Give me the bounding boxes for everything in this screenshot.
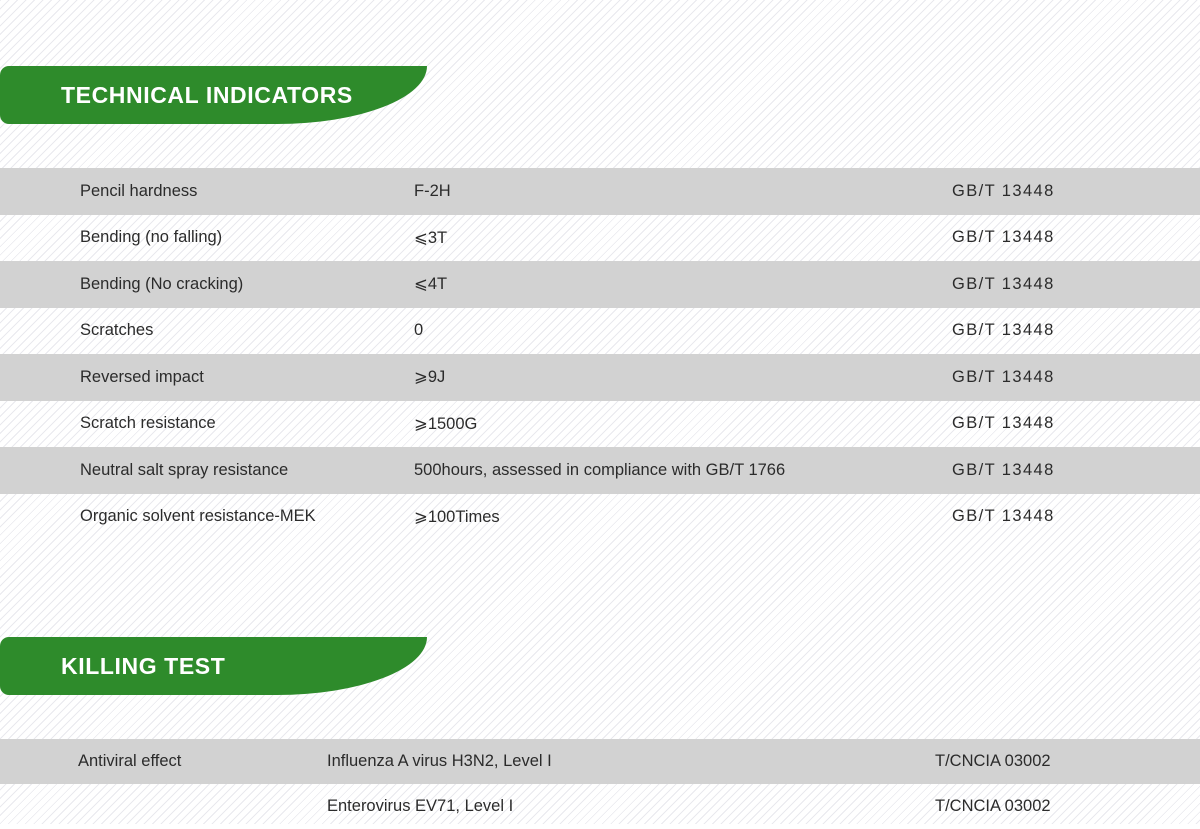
row-label: Scratches: [80, 308, 153, 355]
row-value: ⩽3T: [414, 215, 447, 262]
row-label: Bending (no falling): [80, 215, 222, 262]
row-value: 0: [414, 308, 423, 355]
row-label: Pencil hardness: [80, 168, 197, 215]
row-standard: GB/T 13448: [952, 447, 1055, 494]
row-value: ⩾1500G: [414, 401, 477, 448]
table-row: Antiviral effect Influenza A virus H3N2,…: [0, 739, 1200, 784]
technical-indicators-table: Pencil hardness F-2H GB/T 13448 Bending …: [0, 168, 1200, 540]
section-banner-killing-test: KILLING TEST: [0, 637, 427, 695]
row-standard: GB/T 13448: [952, 308, 1055, 355]
table-row: Reversed impact ⩾9J GB/T 13448: [0, 354, 1200, 401]
row-label: Neutral salt spray resistance: [80, 447, 288, 494]
row-label: Organic solvent resistance-MEK: [80, 494, 316, 541]
table-row: Bending (No cracking) ⩽4T GB/T 13448: [0, 261, 1200, 308]
section-banner-technical-indicators: TECHNICAL INDICATORS: [0, 66, 427, 124]
killing-test-table: Antiviral effect Influenza A virus H3N2,…: [0, 739, 1200, 829]
table-row: Bending (no falling) ⩽3T GB/T 13448: [0, 215, 1200, 262]
table-row: Scratch resistance ⩾1500G GB/T 13448: [0, 401, 1200, 448]
row-value: F-2H: [414, 168, 451, 215]
row-standard: GB/T 13448: [952, 494, 1055, 541]
row-label: Scratch resistance: [80, 401, 216, 448]
section-title-killing-test: KILLING TEST: [0, 653, 225, 680]
row-value: ⩾9J: [414, 354, 445, 401]
row-value: Influenza A virus H3N2, Level I: [327, 739, 552, 784]
table-row: Neutral salt spray resistance 500hours, …: [0, 447, 1200, 494]
row-standard: GB/T 13448: [952, 261, 1055, 308]
section-title-technical-indicators: TECHNICAL INDICATORS: [0, 82, 353, 109]
row-standard: T/CNCIA 03002: [935, 784, 1051, 829]
row-standard: GB/T 13448: [952, 401, 1055, 448]
table-row: Organic solvent resistance-MEK ⩾100Times…: [0, 494, 1200, 541]
row-value: Enterovirus EV71, Level I: [327, 784, 513, 829]
table-row: Enterovirus EV71, Level I T/CNCIA 03002: [0, 784, 1200, 829]
row-standard: GB/T 13448: [952, 354, 1055, 401]
row-value: 500hours, assessed in compliance with GB…: [414, 447, 785, 494]
row-standard: GB/T 13448: [952, 168, 1055, 215]
row-value: ⩽4T: [414, 261, 447, 308]
page-background: TECHNICAL INDICATORS Pencil hardness F-2…: [0, 0, 1200, 824]
row-value: ⩾100Times: [414, 494, 500, 541]
row-label: Bending (No cracking): [80, 261, 243, 308]
table-row: Scratches 0 GB/T 13448: [0, 308, 1200, 355]
row-standard: T/CNCIA 03002: [935, 739, 1051, 784]
table-row: Pencil hardness F-2H GB/T 13448: [0, 168, 1200, 215]
row-label: Reversed impact: [80, 354, 204, 401]
row-standard: GB/T 13448: [952, 215, 1055, 262]
row-label: Antiviral effect: [78, 739, 181, 784]
